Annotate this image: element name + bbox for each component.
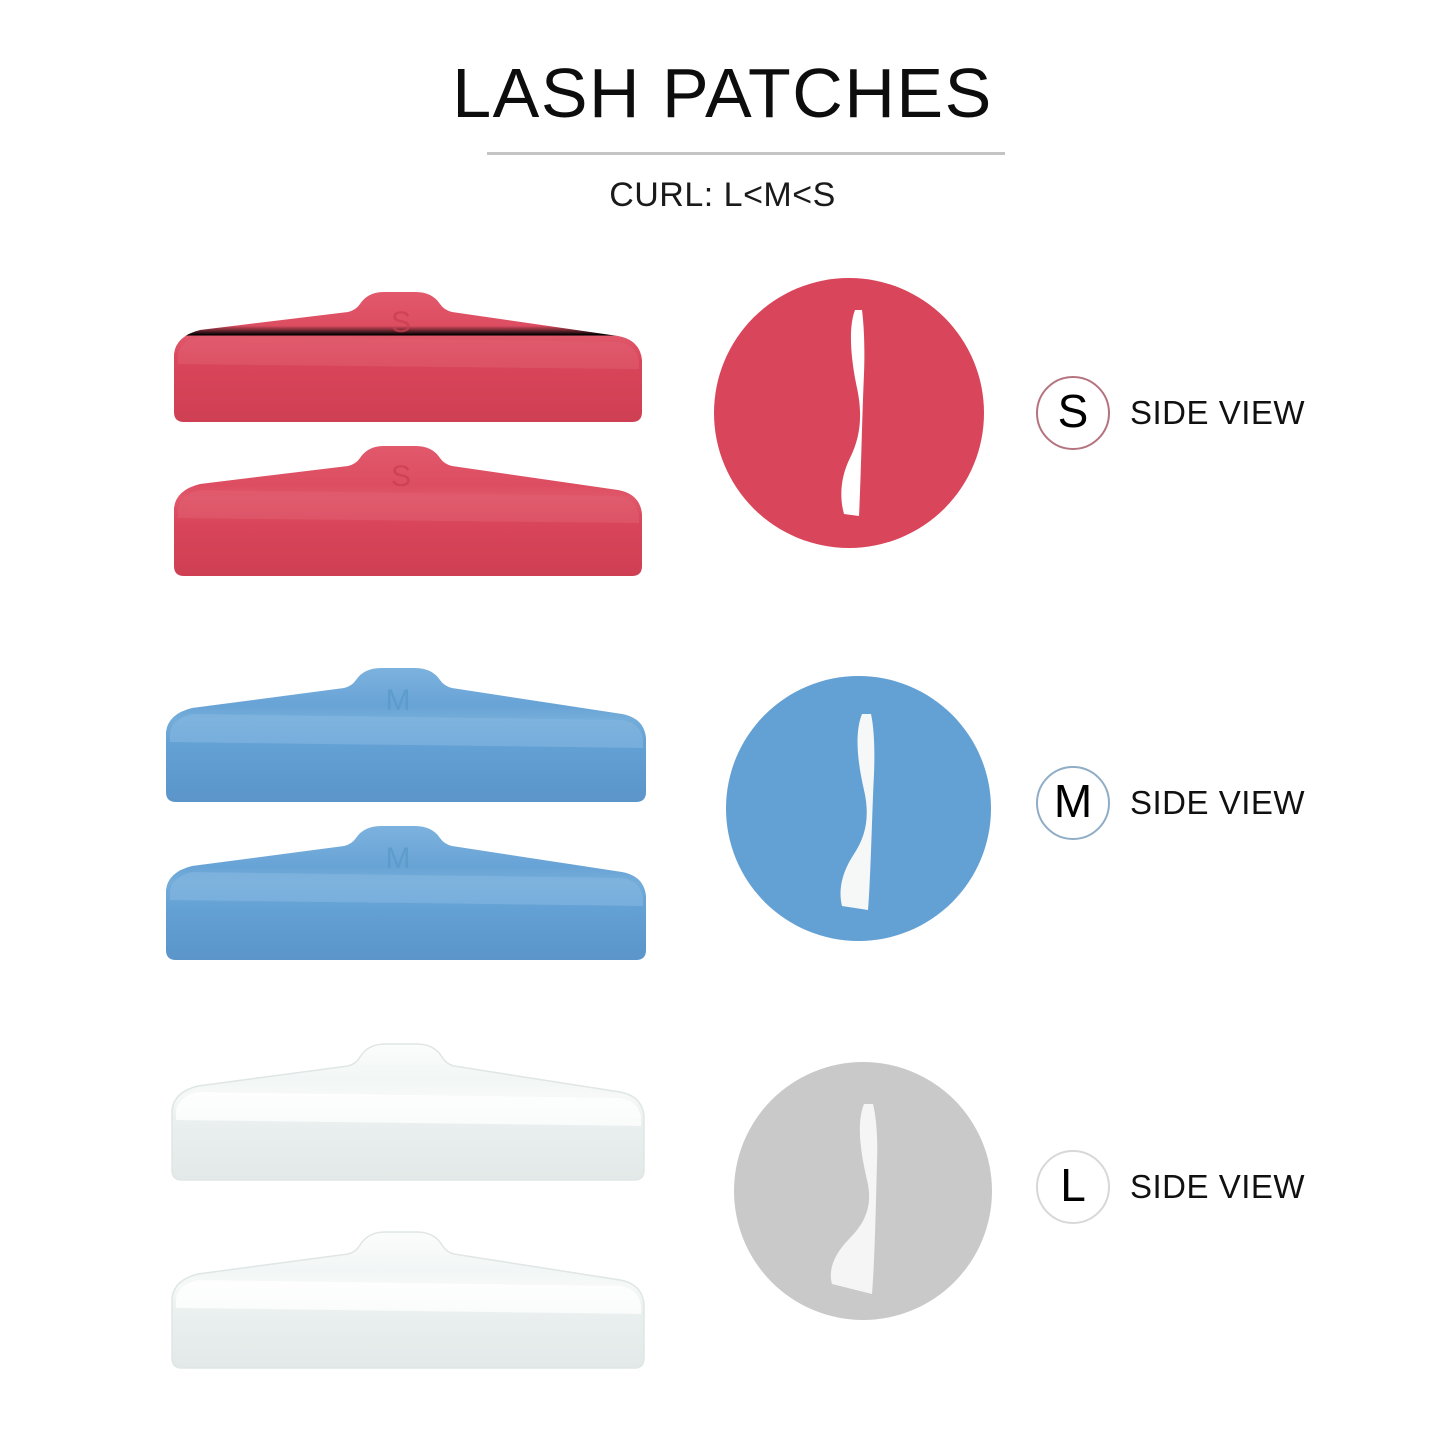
patch-group-l (168, 1042, 658, 1372)
lash-patch-front-m-2: M (162, 826, 652, 964)
size-badge-letter: M (1054, 778, 1092, 824)
lash-patch-front-m-1: M (162, 668, 652, 806)
header: LASH PATCHES CURL: L<M<S (0, 0, 1445, 230)
patch-emboss-letter: S (391, 460, 411, 493)
legend-m: M SIDE VIEW (1036, 766, 1305, 840)
size-badge-m: M (1036, 766, 1110, 840)
section-size-s: S S (0, 268, 1445, 598)
side-view-circle-s (714, 278, 984, 548)
patch-emboss-letter: M (386, 684, 411, 717)
lash-patch-front-s-2: S (170, 446, 648, 581)
patch-group-m: M M (162, 658, 652, 988)
legend-label-l: SIDE VIEW (1130, 1168, 1305, 1206)
patch-group-s: S S (170, 268, 660, 598)
lash-patch-front-l-1 (168, 1044, 650, 1184)
lash-patch-front-l-2 (168, 1232, 650, 1372)
patch-emboss-letter: S (391, 306, 411, 339)
side-view-circle-m (726, 676, 991, 941)
curl-profile-shape (841, 310, 864, 516)
lash-patches-infographic: LASH PATCHES CURL: L<M<S (0, 0, 1445, 1445)
legend-s: S SIDE VIEW (1036, 376, 1305, 450)
page-subtitle: CURL: L<M<S (0, 176, 1445, 215)
patch-emboss-letter: M (386, 842, 411, 875)
size-badge-letter: S (1058, 388, 1089, 434)
legend-l: L SIDE VIEW (1036, 1150, 1305, 1224)
size-badge-s: S (1036, 376, 1110, 450)
curl-profile-shape (841, 714, 875, 910)
lash-patch-front-s-1: S (170, 292, 648, 427)
size-badge-l: L (1036, 1150, 1110, 1224)
legend-label-m: SIDE VIEW (1130, 784, 1305, 822)
side-view-circle-l (734, 1062, 992, 1320)
page-title: LASH PATCHES (0, 58, 1445, 128)
title-divider (487, 152, 1005, 155)
curl-profile-shape (831, 1104, 877, 1294)
legend-label-s: SIDE VIEW (1130, 394, 1305, 432)
section-size-l: L SIDE VIEW (0, 1042, 1445, 1372)
size-badge-letter: L (1060, 1162, 1086, 1208)
section-size-m: M M (0, 658, 1445, 988)
